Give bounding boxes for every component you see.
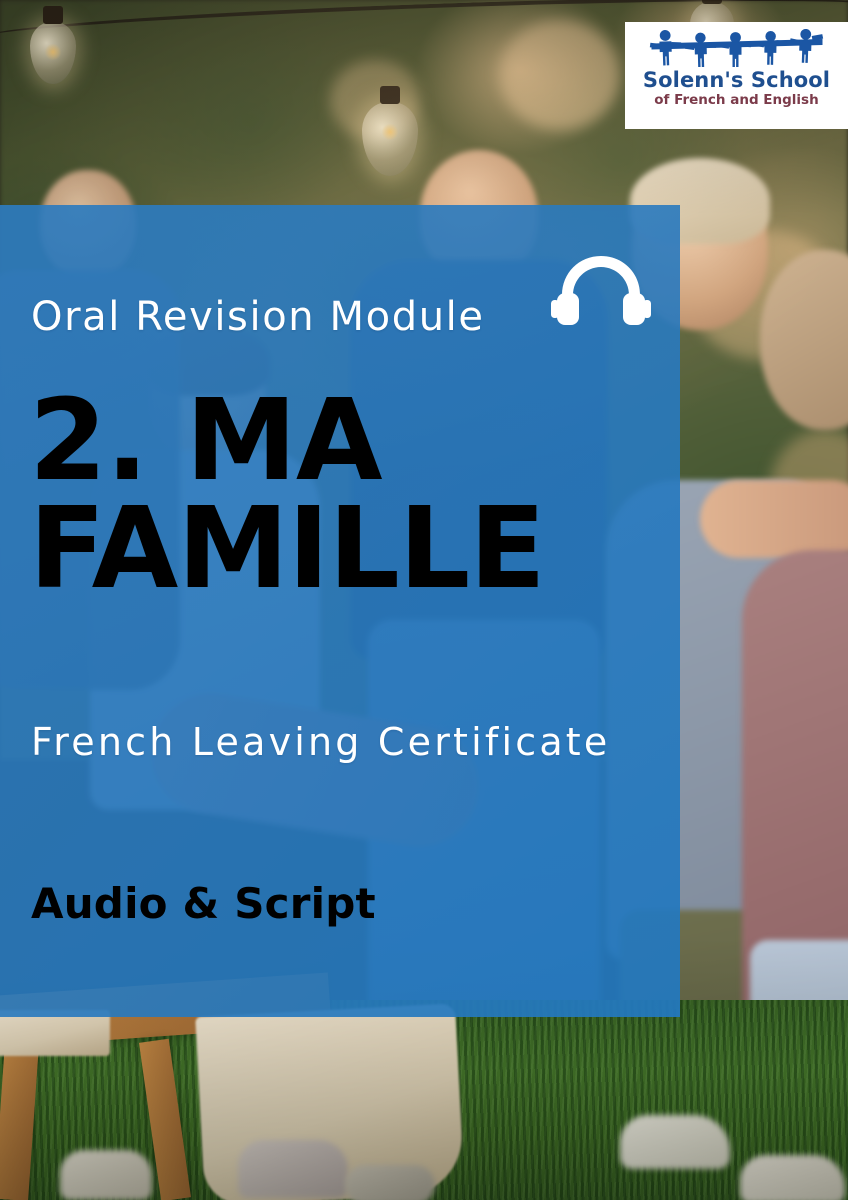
five-paper-people-chain-icon <box>644 29 830 67</box>
cover-page: Solenn's School of French and English Or… <box>0 0 848 1200</box>
school-logo: Solenn's School of French and English <box>625 22 848 129</box>
logo-tagline: of French and English <box>654 93 818 108</box>
kicker-text: Oral Revision Module <box>31 294 631 340</box>
logo-school-name: Solenn's School <box>643 70 830 91</box>
page-title: 2. MA FAMILLE <box>29 388 669 603</box>
subtitle-text: French Leaving Certificate <box>31 715 631 771</box>
tagline-text: Audio & Script <box>31 879 631 928</box>
